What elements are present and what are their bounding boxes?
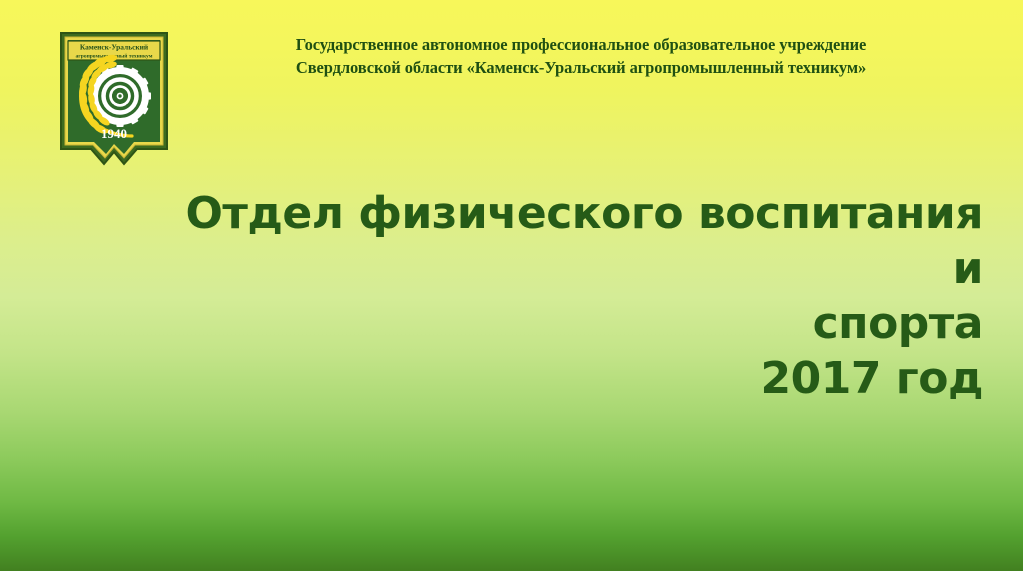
emblem-year: 1940 bbox=[101, 126, 127, 141]
institution-logo: Каменск-Уральский агропромышленный техни… bbox=[58, 30, 170, 178]
slide-title: Отдел физического воспитания и спорта 20… bbox=[183, 186, 983, 406]
presentation-slide: Каменск-Уральский агропромышленный техни… bbox=[0, 0, 1023, 571]
title-line-1: Отдел физического воспитания и bbox=[183, 186, 983, 296]
institution-header: Государственное автономное профессиональ… bbox=[186, 33, 976, 79]
emblem-shield-icon: Каменск-Уральский агропромышленный техни… bbox=[58, 30, 170, 178]
header-line-1: Государственное автономное профессиональ… bbox=[186, 33, 976, 56]
title-line-2: спорта bbox=[183, 296, 983, 351]
header-line-2: Свердловской области «Каменск-Уральский … bbox=[186, 56, 976, 79]
title-line-3: 2017 год bbox=[183, 351, 983, 406]
emblem-banner-line1: Каменск-Уральский bbox=[80, 43, 149, 52]
